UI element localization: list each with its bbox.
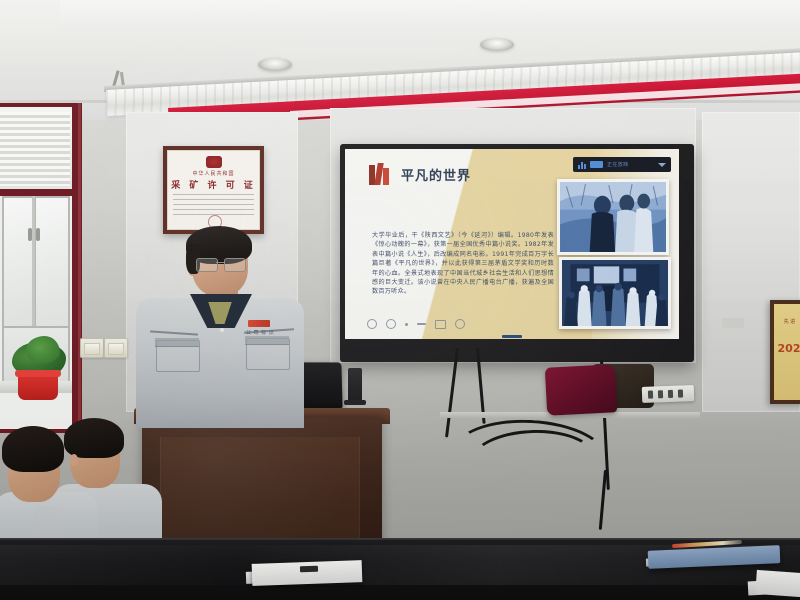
power-strip (642, 385, 695, 403)
photo-two-people-outdoors (560, 182, 666, 252)
window-mullion (32, 196, 35, 326)
wall-marking (722, 318, 744, 328)
line-icon[interactable] (417, 323, 426, 325)
display-indicator (502, 335, 522, 338)
window-blinds (0, 112, 70, 186)
presentation-slide: 平凡的世界 大学毕业后，干《陕西文艺》（今《延河》）编辑。1980年发表《惊心动… (345, 149, 679, 339)
slide-photo-top (557, 179, 669, 255)
circle-tool-icon[interactable] (386, 319, 396, 329)
national-emblem-icon (206, 156, 222, 168)
secondary-monitor (348, 368, 362, 402)
certificate-title: 采 矿 许 可 证 (163, 178, 264, 191)
plant-foliage (26, 336, 60, 364)
circle-icon[interactable] (455, 319, 465, 329)
pocket-flap (155, 338, 199, 347)
window-rail (0, 189, 76, 196)
control-bar-label: 正在放映 (607, 161, 629, 168)
loose-papers[interactable] (755, 570, 800, 598)
audience-hair (2, 426, 64, 472)
flower-pot (18, 374, 58, 400)
bar-chart-icon[interactable] (578, 161, 586, 169)
presenter: 公 司 标 识 (136, 228, 304, 428)
wall-display[interactable]: 平凡的世界 大学毕业后，干《陕西文艺》（今《延河》）编辑。1980年发表《惊心动… (340, 144, 694, 362)
badge-icon[interactable] (590, 161, 603, 168)
window-post-edge (78, 103, 81, 433)
book-stack-logo-icon (369, 163, 389, 185)
ceiling (60, 0, 800, 30)
uniform-button (220, 328, 224, 332)
eyeglasses-icon (196, 258, 248, 271)
ceiling-spotlight-icon (480, 38, 514, 51)
light-switch[interactable] (104, 338, 128, 358)
slide-photo-bottom (559, 257, 671, 329)
certificate-issuer: 中华人民共和国 (163, 170, 264, 177)
paper-handout[interactable] (252, 560, 363, 586)
paper-marking (300, 566, 318, 573)
framed-certificate: 中华人民共和国 采 矿 许 可 证 (163, 146, 264, 234)
conference-room-photo: 中华人民共和国 采 矿 许 可 证 先 进 202 平凡的世界 大学毕业后，干《… (0, 0, 800, 600)
dot-icon[interactable] (405, 323, 408, 326)
window-handle[interactable] (28, 228, 32, 241)
ceiling-spotlight-icon (258, 58, 292, 71)
slide-title: 平凡的世界 (401, 165, 471, 184)
light-switch[interactable] (80, 338, 104, 358)
presentation-control-bar[interactable]: 正在放映 (573, 157, 671, 172)
photo-group-in-doorway (562, 260, 668, 326)
window-handle[interactable] (36, 228, 40, 241)
maroon-bag (545, 364, 617, 416)
circle-tool-icon[interactable] (367, 319, 377, 329)
rectangle-icon[interactable] (435, 320, 446, 329)
plaque-caption: 先 进 (774, 318, 800, 325)
company-logo-patch (248, 320, 270, 327)
window-pane (2, 196, 36, 328)
framed-plaque: 先 进 202 (770, 300, 800, 404)
plaque-year: 202 (772, 342, 800, 355)
slide-body-text: 大学毕业后，干《陕西文艺》（今《延河》）编辑。1980年发表《惊心动魄的一幕》，… (372, 231, 554, 297)
monitor-stand (344, 400, 366, 405)
pocket-flap (245, 336, 289, 345)
company-name-patch: 公 司 标 识 (246, 329, 274, 336)
window-pane (34, 196, 70, 328)
chevron-down-icon[interactable] (658, 163, 666, 167)
display-screen[interactable]: 平凡的世界 大学毕业后，干《陕西文艺》（今《延河》）编辑。1980年发表《惊心动… (345, 149, 679, 339)
slide-toolbar[interactable] (367, 319, 465, 329)
